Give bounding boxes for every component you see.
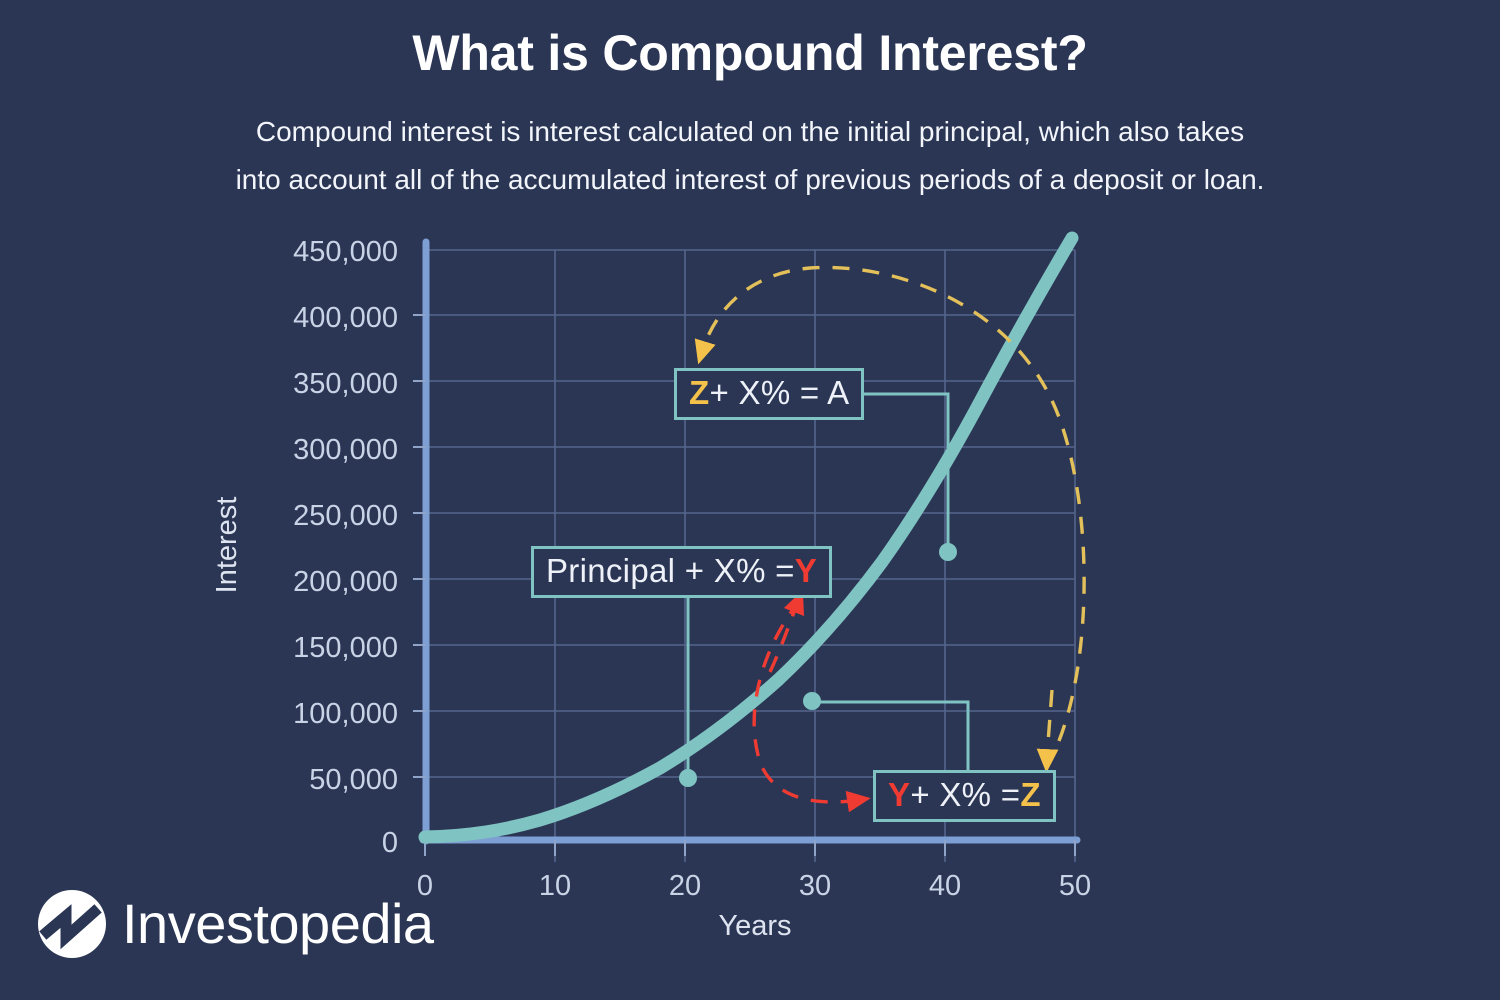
callout-z-plus-x-equals-a[interactable]: Z + X% = A: [674, 368, 864, 420]
callout-y-part-0: Principal + X% =: [546, 552, 795, 590]
x-tick-label: 40: [929, 870, 961, 902]
x-tick-label: 20: [669, 870, 701, 902]
y-tick-label: 50,000: [309, 764, 398, 796]
y-tick-label: 200,000: [293, 566, 398, 598]
y-tick-label: 100,000: [293, 698, 398, 730]
y-tick-label: 350,000: [293, 368, 398, 400]
y-tick-label: 300,000: [293, 434, 398, 466]
data-point-marker: [679, 769, 697, 787]
y-tick-labels: 450,000 400,000 350,000 300,000 250,000 …: [293, 236, 398, 859]
callout-y-part-1: Y: [795, 552, 817, 590]
y-tick-label: 450,000: [293, 236, 398, 268]
investopedia-logo[interactable]: Investopedia: [36, 888, 434, 960]
callout-principal-plus-x-equals-y[interactable]: Principal + X% = Y: [531, 546, 832, 598]
callout-z-part-1: + X% =: [910, 776, 1020, 814]
y-tick-label: 150,000: [293, 632, 398, 664]
data-point-marker: [939, 543, 957, 561]
x-tick-label: 10: [539, 870, 571, 902]
investopedia-logo-mark-icon: [36, 888, 108, 960]
callout-a-part-0: Z: [689, 374, 709, 412]
callout-y-plus-x-equals-z[interactable]: Y + X% = Z: [873, 770, 1056, 822]
callout-a-part-1: + X% = A: [709, 374, 849, 412]
y-tick-label: 250,000: [293, 500, 398, 532]
callout-z-part-0: Y: [888, 776, 910, 814]
investopedia-logo-text: Investopedia: [122, 896, 434, 952]
flow-arrow-gold-down: [1047, 690, 1052, 760]
x-tick-labels: 0 10 20 30 40 50: [417, 870, 1091, 902]
infographic-canvas: What is Compound Interest? Compound inte…: [0, 0, 1500, 1000]
compound-interest-curve: [425, 238, 1072, 837]
compound-interest-chart: 450,000 400,000 350,000 300,000 250,000 …: [0, 0, 1500, 1000]
x-tick-label: 30: [799, 870, 831, 902]
x-tick-label: 50: [1059, 870, 1091, 902]
x-axis-title: Years: [718, 910, 791, 942]
y-tick-label: 0: [382, 827, 398, 859]
y-tick-label: 400,000: [293, 302, 398, 334]
data-point-marker: [803, 692, 821, 710]
y-axis-title: Interest: [211, 497, 243, 594]
callout-z-part-2: Z: [1020, 776, 1040, 814]
